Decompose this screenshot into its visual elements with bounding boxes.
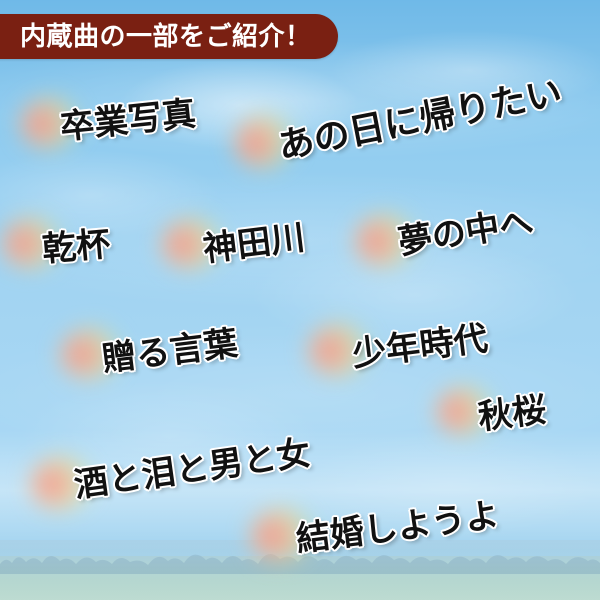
song-item: 夢の中へ <box>394 194 536 264</box>
song-item: 酒と泪と男と女 <box>71 425 314 507</box>
song-title: あの日に帰りたい <box>273 64 566 170</box>
song-title: 秋桜 <box>475 382 548 439</box>
song-title: 酒と泪と男と女 <box>71 425 314 507</box>
song-title: 神田川 <box>200 210 307 271</box>
song-title: 夢の中へ <box>394 194 536 264</box>
header-banner-label: 内蔵曲の一部をご紹介！ <box>20 24 312 50</box>
poster-canvas: 内蔵曲の一部をご紹介！ 卒業写真あの日に帰りたい乾杯神田川夢の中へ贈る言葉少年時… <box>0 0 600 600</box>
song-item: 乾杯 <box>40 216 112 271</box>
header-banner: 内蔵曲の一部をご紹介！ <box>0 14 338 59</box>
song-title: 少年時代 <box>349 311 490 376</box>
cloud-wisp-3 <box>0 150 220 240</box>
song-title: 贈る言葉 <box>99 316 240 381</box>
song-item: 秋桜 <box>475 382 548 439</box>
song-title: 乾杯 <box>40 216 112 271</box>
song-item: 神田川 <box>200 210 307 271</box>
song-item: 贈る言葉 <box>99 316 240 381</box>
song-item: 卒業写真 <box>57 86 197 149</box>
song-item: あの日に帰りたい <box>273 64 566 170</box>
song-item: 少年時代 <box>349 311 490 376</box>
song-title: 卒業写真 <box>57 86 197 149</box>
